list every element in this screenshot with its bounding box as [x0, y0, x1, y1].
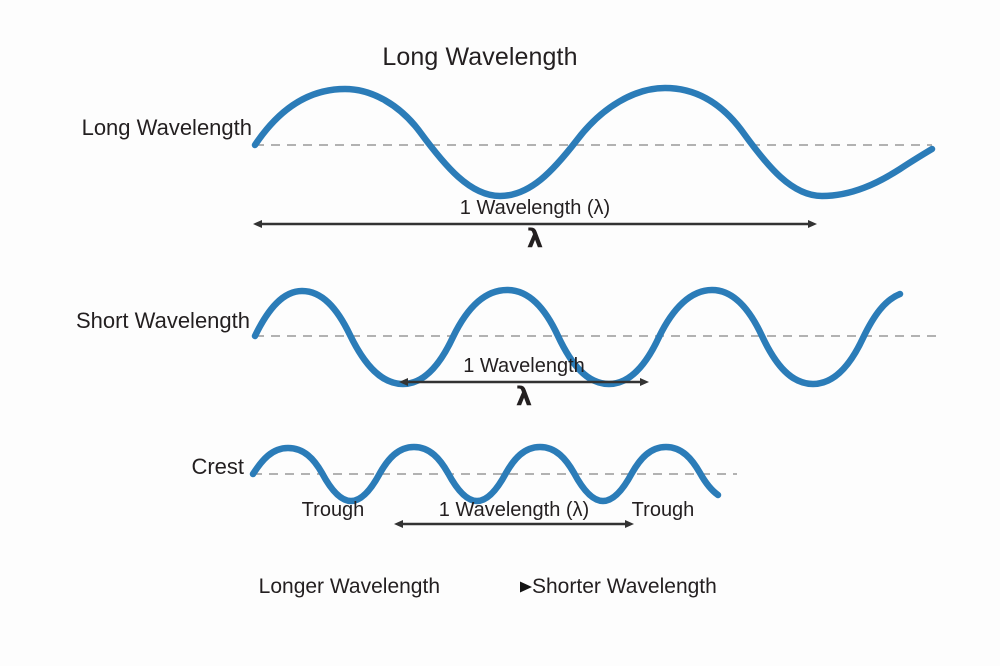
wave-curve-row1 — [255, 88, 932, 196]
page-title: Long Wavelength — [382, 45, 577, 70]
row3-crest-label: Crest — [191, 456, 244, 478]
row3-trough-label-right: Trough — [632, 500, 695, 520]
row1-measure-label: 1 Wavelength (λ) — [460, 198, 610, 218]
wavelength-diagram: Long Wavelength Long Wavelength 1 Wavele… — [0, 0, 1000, 666]
row2-side-label: Short Wavelength — [76, 310, 250, 332]
wave-graphics — [0, 0, 1000, 666]
row3-trough-label-left: Trough — [302, 500, 365, 520]
caption-longer-wavelength: Longer Wavelength — [259, 576, 440, 597]
row1-lambda-symbol: λ — [527, 226, 543, 252]
row3-measure-label: 1 Wavelength (λ) — [439, 500, 589, 520]
row1-side-label: Long Wavelength — [82, 117, 252, 139]
row2-measure-label: 1 Wavelength — [463, 356, 585, 376]
row2-lambda-symbol: λ — [516, 384, 532, 410]
caption-shorter-wavelength: Shorter Wavelength — [532, 576, 717, 597]
